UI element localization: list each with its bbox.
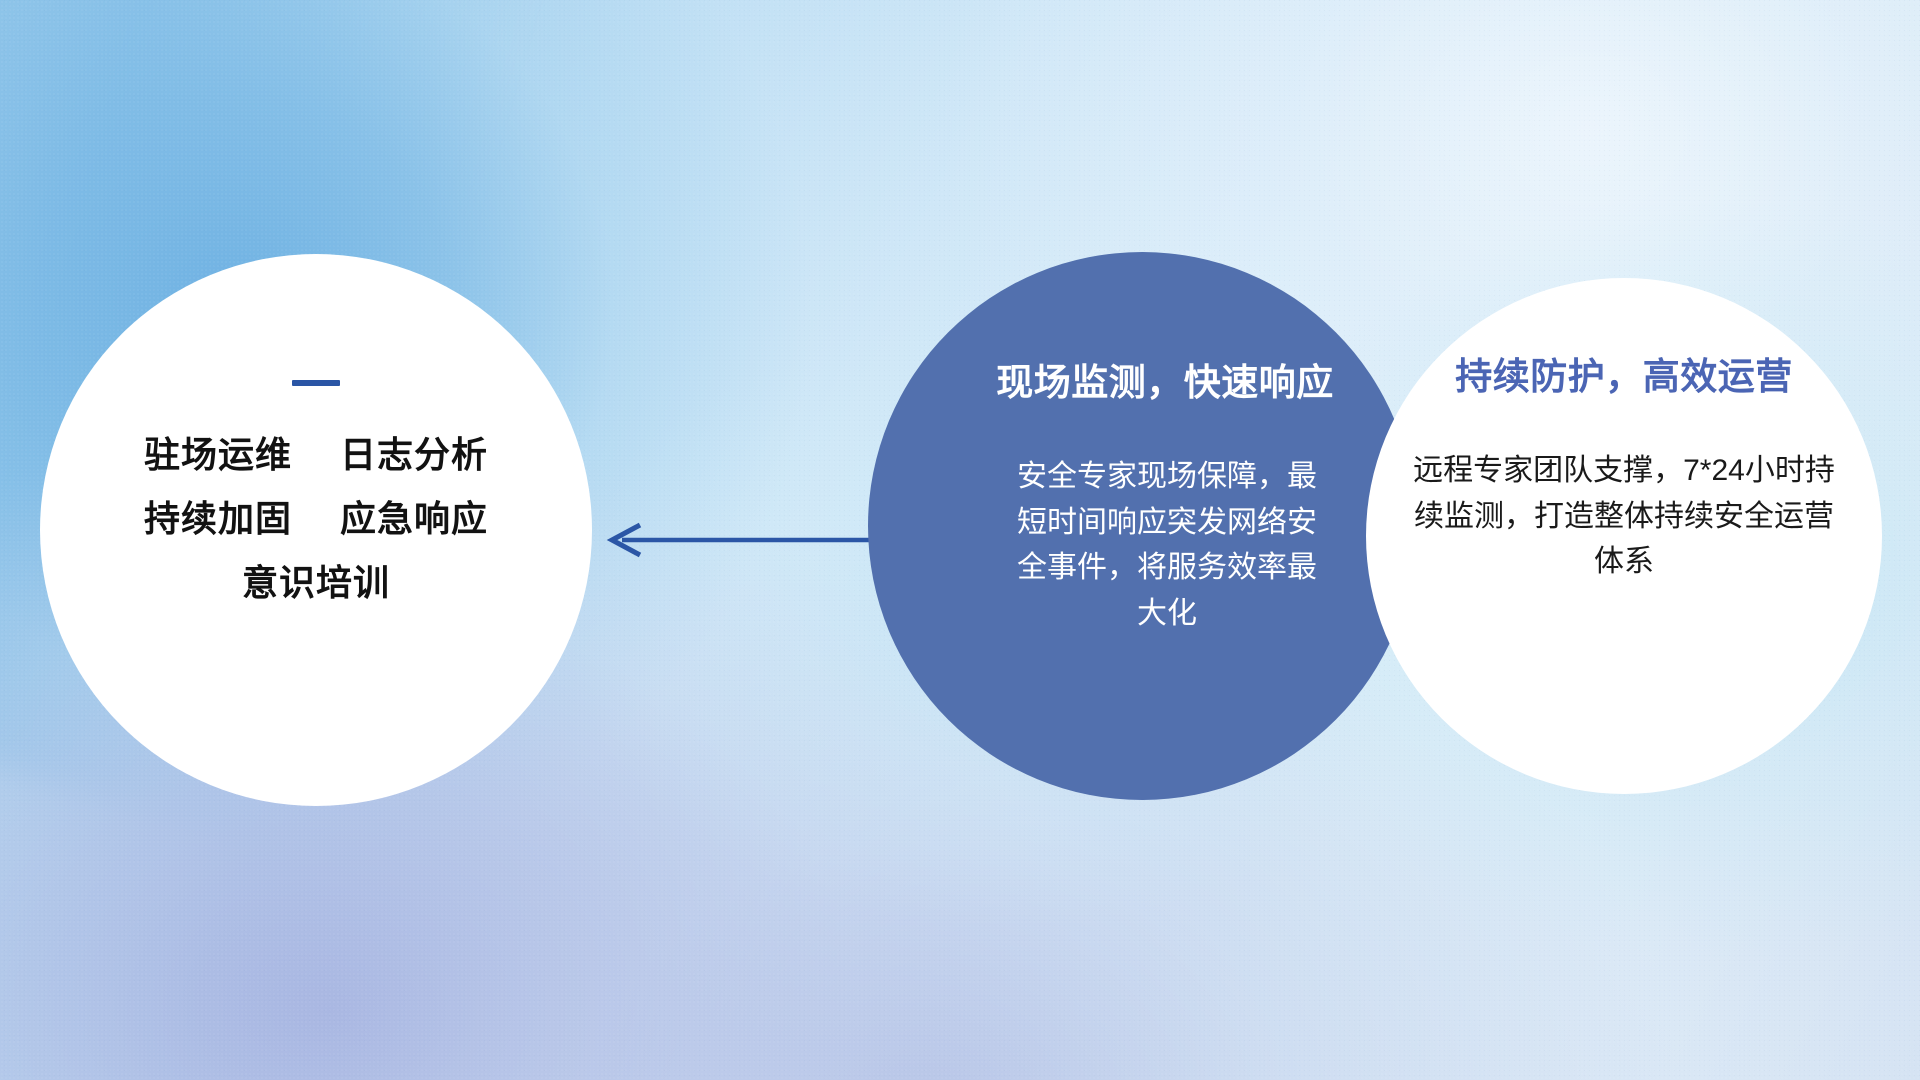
right-circle-body: 远程专家团队支撑，7*24小时持续监测，打造整体持续安全运营体系 — [1409, 448, 1839, 585]
right-circle-card[interactable]: 持续防护，高效运营 远程专家团队支撑，7*24小时持续监测，打造整体持续安全运营… — [1366, 278, 1882, 794]
tag-label: 驻场运维 — [144, 434, 292, 475]
list-item: 持续加固 应急响应 — [144, 500, 488, 538]
right-circle-content: 持续防护，高效运营 远程专家团队支撑，7*24小时持续监测，打造整体持续安全运营… — [1366, 278, 1882, 794]
left-circle-content: 驻场运维 日志分析 持续加固 应急响应 意识培训 — [40, 254, 592, 806]
tag-label: 意识培训 — [242, 562, 390, 603]
tag-label: 日志分析 — [340, 434, 488, 475]
arrow-left-icon — [600, 505, 900, 575]
list-item: 意识培训 — [242, 564, 390, 602]
list-item: 驻场运维 日志分析 — [144, 436, 488, 474]
right-circle-title: 持续防护，高效运营 — [1455, 346, 1793, 400]
slide-canvas: 驻场运维 日志分析 持续加固 应急响应 意识培训 现场监测，快速响应 安全专家现… — [0, 0, 1920, 1080]
middle-circle-body: 安全专家现场保障，最短时间响应突发网络安全事件，将服务效率最大化 — [1011, 454, 1323, 636]
divider-dash — [292, 380, 340, 386]
service-tag-list: 驻场运维 日志分析 持续加固 应急响应 意识培训 — [144, 436, 488, 601]
connector-arrow — [600, 505, 900, 575]
middle-circle-content: 现场监测，快速响应 安全专家现场保障，最短时间响应突发网络安全事件，将服务效率最… — [868, 252, 1416, 800]
tag-label: 应急响应 — [340, 498, 488, 539]
tag-label: 持续加固 — [144, 498, 292, 539]
middle-circle-card[interactable]: 现场监测，快速响应 安全专家现场保障，最短时间响应突发网络安全事件，将服务效率最… — [868, 252, 1416, 800]
middle-circle-title: 现场监测，快速响应 — [996, 352, 1334, 406]
left-circle-card[interactable]: 驻场运维 日志分析 持续加固 应急响应 意识培训 — [40, 254, 592, 806]
